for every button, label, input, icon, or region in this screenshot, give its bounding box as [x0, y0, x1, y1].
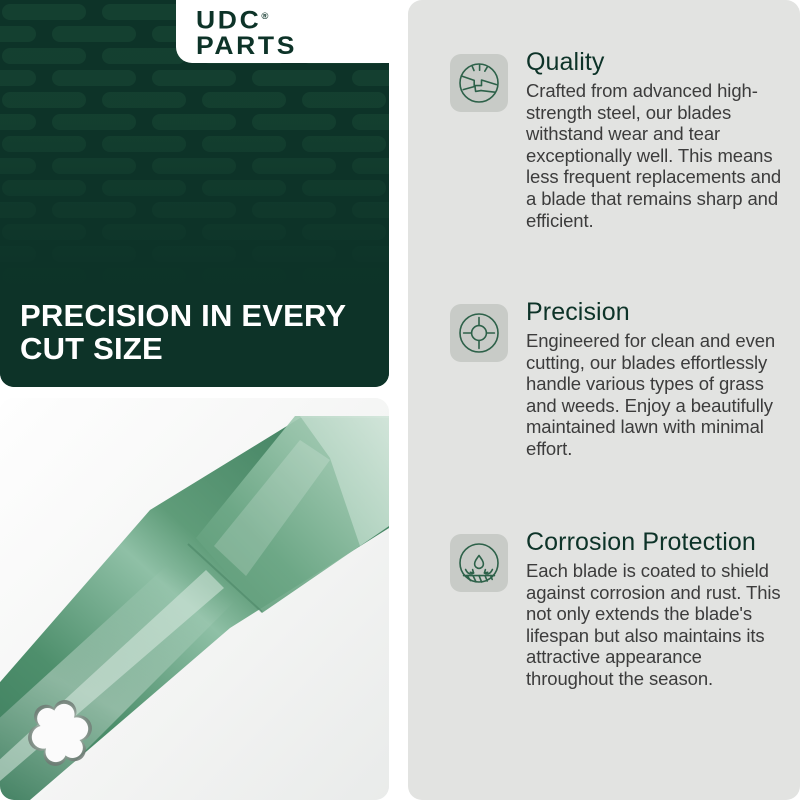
feature-body: Each blade is coated to shield against c…	[526, 560, 794, 690]
page-title: PRECISION IN EVERY CUT SIZE	[20, 299, 370, 365]
feature-text-corrosion-protection: Corrosion Protection Each blade is coate…	[526, 528, 794, 690]
brand-logo: UDC® PARTS	[196, 3, 386, 61]
water-repellent-droplet-icon	[450, 534, 508, 592]
product-infographic: PRECISION IN EVERY CUT SIZE UDC® PARTS	[0, 0, 800, 800]
impact-crack-icon	[450, 54, 508, 112]
feature-text-quality: Quality Crafted from advanced high-stren…	[526, 48, 794, 231]
feature-body: Engineered for clean and even cutting, o…	[526, 330, 794, 460]
left-column: PRECISION IN EVERY CUT SIZE UDC® PARTS	[0, 0, 390, 800]
mower-blade-photo-icon	[0, 398, 389, 800]
logo-text-udc: UDC®	[196, 3, 397, 33]
feature-title: Precision	[526, 298, 794, 327]
feature-title: Quality	[526, 48, 794, 77]
feature-body: Crafted from advanced high-strength stee…	[526, 80, 794, 231]
logo-text-parts: PARTS	[196, 33, 397, 59]
crosshair-target-icon	[450, 304, 508, 362]
registered-trademark-icon: ®	[261, 11, 268, 21]
feature-text-precision: Precision Engineered for clean and even …	[526, 298, 794, 460]
features-panel: Quality Crafted from advanced high-stren…	[408, 0, 800, 800]
feature-title: Corrosion Protection	[526, 528, 794, 557]
product-photo-panel	[0, 398, 389, 800]
